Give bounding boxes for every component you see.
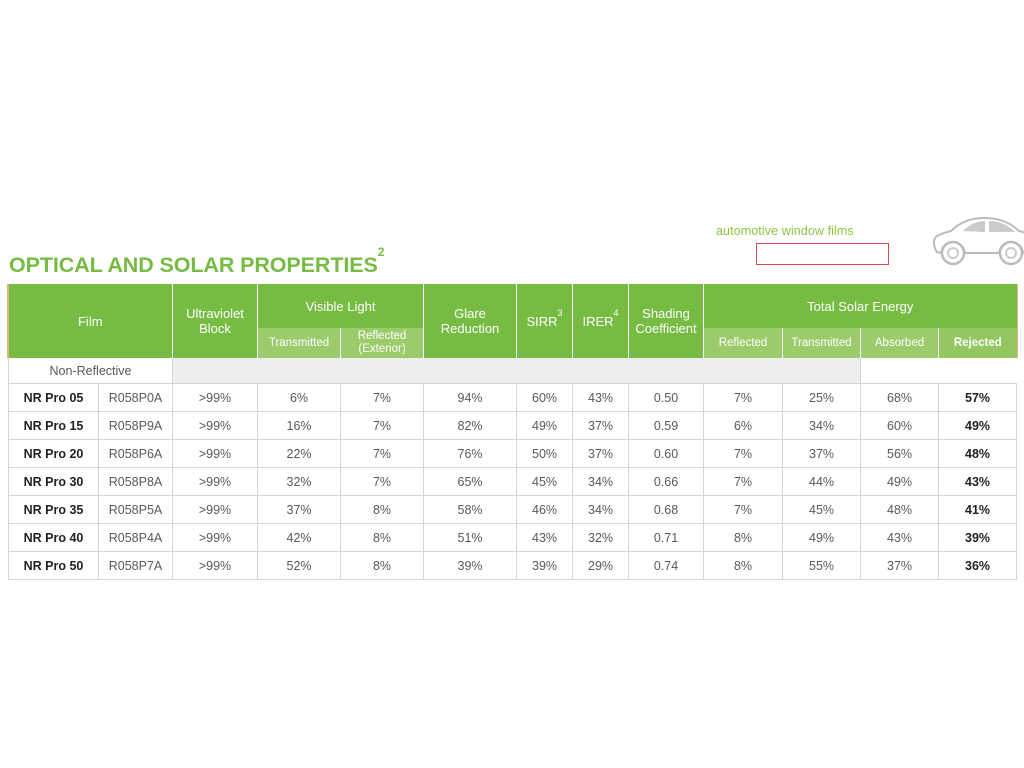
col-header-total-solar-energy: Total Solar Energy — [704, 284, 1017, 328]
uv-block-cell: >99% — [173, 524, 258, 552]
col-header-glare-reduction: Glare Reduction — [424, 284, 517, 358]
brand-strip: automotive window films — [716, 214, 1016, 276]
vl-reflected-cell: 7% — [341, 440, 424, 468]
vl-reflected-cell: 7% — [341, 412, 424, 440]
table-row: NR Pro 20R058P6A>99%22%7%76%50%37%0.607%… — [9, 440, 1017, 468]
tse-rejected-cell: 49% — [939, 412, 1017, 440]
film-code-cell: R058P4A — [99, 524, 173, 552]
vl-transmitted-cell: 22% — [258, 440, 341, 468]
table-header-row-primary: Film Ultraviolet Block Visible Light Gla… — [9, 284, 1017, 328]
glare-reduction-cell: 82% — [424, 412, 517, 440]
table-row: NR Pro 05R058P0A>99%6%7%94%60%43%0.507%2… — [9, 384, 1017, 412]
col-header-tse-absorbed: Absorbed — [861, 328, 939, 358]
sirr-cell: 49% — [517, 412, 573, 440]
table-header: Film Ultraviolet Block Visible Light Gla… — [9, 284, 1017, 358]
vl-transmitted-cell: 6% — [258, 384, 341, 412]
page-title: OPTICAL AND SOLAR PROPERTIES2 — [9, 253, 384, 278]
tse-rejected-cell: 41% — [939, 496, 1017, 524]
tse-transmitted-cell: 37% — [783, 440, 861, 468]
glare-reduction-cell: 65% — [424, 468, 517, 496]
vl-reflected-cell: 8% — [341, 552, 424, 580]
col-header-sirr-footnote: 3 — [558, 308, 563, 318]
col-header-sirr: SIRR3 — [517, 284, 573, 358]
film-code-cell: R058P9A — [99, 412, 173, 440]
group-row-label: Non-Reflective — [9, 358, 173, 384]
tse-transmitted-cell: 49% — [783, 524, 861, 552]
film-code-cell: R058P6A — [99, 440, 173, 468]
film-name-cell: NR Pro 40 — [9, 524, 99, 552]
col-header-tse-reflected: Reflected — [704, 328, 783, 358]
irer-cell: 34% — [573, 496, 629, 524]
glare-reduction-cell: 51% — [424, 524, 517, 552]
group-row-blank-rejected — [939, 358, 1017, 384]
glare-reduction-cell: 76% — [424, 440, 517, 468]
sirr-cell: 50% — [517, 440, 573, 468]
film-name-cell: NR Pro 20 — [9, 440, 99, 468]
tse-rejected-cell: 43% — [939, 468, 1017, 496]
tse-reflected-cell: 7% — [704, 468, 783, 496]
irer-cell: 29% — [573, 552, 629, 580]
tse-absorbed-cell: 37% — [861, 552, 939, 580]
col-header-tse-rejected: Rejected — [939, 328, 1017, 358]
glare-reduction-cell: 94% — [424, 384, 517, 412]
col-header-irer-footnote: 4 — [614, 308, 619, 318]
shading-coefficient-cell: 0.50 — [629, 384, 704, 412]
film-name-cell: NR Pro 50 — [9, 552, 99, 580]
tse-rejected-cell: 36% — [939, 552, 1017, 580]
group-row-blank-absorbed — [861, 358, 939, 384]
sirr-cell: 43% — [517, 524, 573, 552]
irer-cell: 37% — [573, 440, 629, 468]
uv-block-cell: >99% — [173, 496, 258, 524]
shading-coefficient-cell: 0.66 — [629, 468, 704, 496]
tse-absorbed-cell: 49% — [861, 468, 939, 496]
col-header-tse-transmitted: Transmitted — [783, 328, 861, 358]
irer-cell: 34% — [573, 468, 629, 496]
vl-transmitted-cell: 42% — [258, 524, 341, 552]
vl-reflected-cell: 7% — [341, 468, 424, 496]
col-header-shading-coefficient: Shading Coefficient — [629, 284, 704, 358]
tse-absorbed-cell: 43% — [861, 524, 939, 552]
table-body: Non-Reflective NR Pro 05R058P0A>99%6%7%9… — [9, 358, 1017, 580]
vl-transmitted-cell: 32% — [258, 468, 341, 496]
glare-reduction-cell: 58% — [424, 496, 517, 524]
table-row: NR Pro 30R058P8A>99%32%7%65%45%34%0.667%… — [9, 468, 1017, 496]
shading-coefficient-cell: 0.68 — [629, 496, 704, 524]
tse-transmitted-cell: 44% — [783, 468, 861, 496]
irer-cell: 37% — [573, 412, 629, 440]
col-header-irer-text: IRER — [582, 314, 613, 329]
col-header-sirr-text: SIRR — [526, 314, 557, 329]
film-name-cell: NR Pro 30 — [9, 468, 99, 496]
page-title-text: OPTICAL AND SOLAR PROPERTIES — [9, 253, 378, 277]
uv-block-cell: >99% — [173, 468, 258, 496]
uv-block-cell: >99% — [173, 412, 258, 440]
sirr-cell: 46% — [517, 496, 573, 524]
shading-coefficient-cell: 0.59 — [629, 412, 704, 440]
tse-absorbed-cell: 68% — [861, 384, 939, 412]
tse-transmitted-cell: 55% — [783, 552, 861, 580]
film-code-cell: R058P0A — [99, 384, 173, 412]
car-side-icon — [929, 214, 1024, 273]
vl-reflected-cell: 7% — [341, 384, 424, 412]
page-title-footnote: 2 — [378, 245, 385, 259]
film-code-cell: R058P5A — [99, 496, 173, 524]
tse-reflected-cell: 6% — [704, 412, 783, 440]
uv-block-cell: >99% — [173, 440, 258, 468]
tse-rejected-cell: 57% — [939, 384, 1017, 412]
tse-transmitted-cell: 25% — [783, 384, 861, 412]
tse-rejected-cell: 48% — [939, 440, 1017, 468]
vl-transmitted-cell: 16% — [258, 412, 341, 440]
tse-absorbed-cell: 56% — [861, 440, 939, 468]
sirr-cell: 45% — [517, 468, 573, 496]
film-name-cell: NR Pro 15 — [9, 412, 99, 440]
sirr-cell: 60% — [517, 384, 573, 412]
col-header-film: Film — [9, 284, 173, 358]
tse-absorbed-cell: 48% — [861, 496, 939, 524]
vl-transmitted-cell: 37% — [258, 496, 341, 524]
vl-transmitted-cell: 52% — [258, 552, 341, 580]
brand-logo-placeholder — [756, 243, 889, 265]
uv-block-cell: >99% — [173, 552, 258, 580]
col-header-irer: IRER4 — [573, 284, 629, 358]
tse-transmitted-cell: 45% — [783, 496, 861, 524]
tse-reflected-cell: 8% — [704, 524, 783, 552]
brand-tagline: automotive window films — [716, 224, 889, 238]
tse-reflected-cell: 7% — [704, 384, 783, 412]
shading-coefficient-cell: 0.74 — [629, 552, 704, 580]
table-group-row: Non-Reflective — [9, 358, 1017, 384]
film-name-cell: NR Pro 05 — [9, 384, 99, 412]
tse-reflected-cell: 8% — [704, 552, 783, 580]
col-header-visible-light: Visible Light — [258, 284, 424, 328]
sirr-cell: 39% — [517, 552, 573, 580]
col-header-ultraviolet-block: Ultraviolet Block — [173, 284, 258, 358]
vl-reflected-cell: 8% — [341, 524, 424, 552]
vl-reflected-cell: 8% — [341, 496, 424, 524]
shading-coefficient-cell: 0.60 — [629, 440, 704, 468]
brand-text-block: automotive window films — [716, 214, 889, 265]
table-row: NR Pro 15R058P9A>99%16%7%82%49%37%0.596%… — [9, 412, 1017, 440]
film-name-cell: NR Pro 35 — [9, 496, 99, 524]
tse-reflected-cell: 7% — [704, 440, 783, 468]
col-header-vl-transmitted: Transmitted — [258, 328, 341, 358]
uv-block-cell: >99% — [173, 384, 258, 412]
optical-solar-properties-table: Film Ultraviolet Block Visible Light Gla… — [8, 284, 1017, 580]
table-row: NR Pro 50R058P7A>99%52%8%39%39%29%0.748%… — [9, 552, 1017, 580]
tse-absorbed-cell: 60% — [861, 412, 939, 440]
irer-cell: 43% — [573, 384, 629, 412]
col-header-vl-reflected: Reflected (Exterior) — [341, 328, 424, 358]
glare-reduction-cell: 39% — [424, 552, 517, 580]
film-code-cell: R058P7A — [99, 552, 173, 580]
group-row-filler — [173, 358, 861, 384]
film-code-cell: R058P8A — [99, 468, 173, 496]
shading-coefficient-cell: 0.71 — [629, 524, 704, 552]
tse-rejected-cell: 39% — [939, 524, 1017, 552]
tse-transmitted-cell: 34% — [783, 412, 861, 440]
tse-reflected-cell: 7% — [704, 496, 783, 524]
irer-cell: 32% — [573, 524, 629, 552]
table-row: NR Pro 35R058P5A>99%37%8%58%46%34%0.687%… — [9, 496, 1017, 524]
table-row: NR Pro 40R058P4A>99%42%8%51%43%32%0.718%… — [9, 524, 1017, 552]
